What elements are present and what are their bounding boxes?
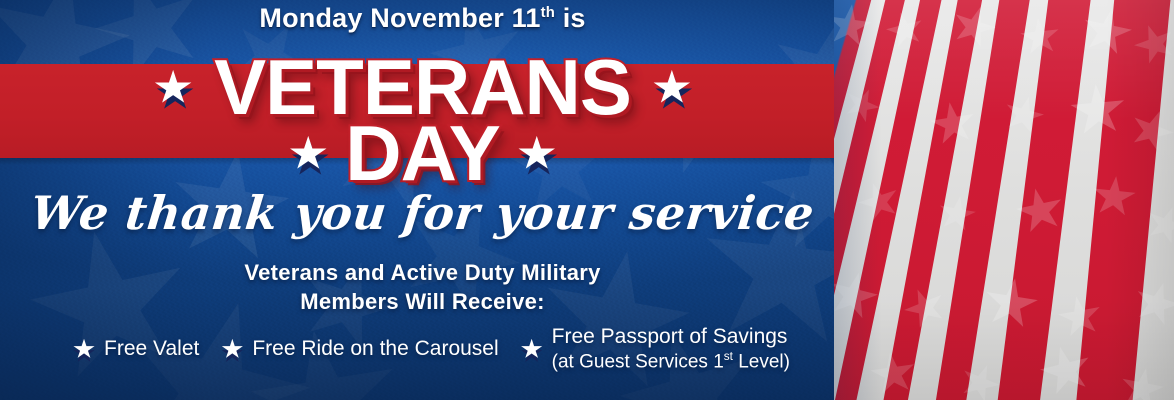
thank-you-script-line: We thank you for your service [0, 186, 848, 240]
date-line-prefix: Monday November 11 [259, 3, 540, 33]
star-icon [518, 136, 556, 172]
perk-label-text: Free Passport of Savings [552, 325, 788, 348]
perks-list: Free Valet Free Ride on the Carousel Fre… [0, 325, 845, 374]
date-line-suffix: is [555, 3, 586, 33]
veterans-day-banner: Monday November 11th is VETERANS DAY We … [0, 0, 1174, 400]
date-line: Monday November 11th is [0, 3, 845, 34]
subheading: Veterans and Active Duty Military Member… [0, 258, 845, 316]
perk-label-text: Free Ride on the Carousel [252, 337, 498, 360]
star-icon [289, 136, 327, 172]
us-flag-graphic [834, 0, 1174, 400]
perk-label: Free Ride on the Carousel [252, 337, 498, 362]
date-line-ordinal: th [541, 5, 555, 21]
subheading-line-1: Veterans and Active Duty Military [0, 258, 845, 287]
perk-label: Free Valet [104, 337, 199, 362]
star-icon [154, 70, 192, 106]
flag-shading [834, 0, 1174, 400]
perk-sublabel-ordinal: st [724, 350, 733, 363]
perk-sublabel-suffix: Level) [733, 351, 790, 372]
perk-sublabel: (at Guest Services 1st Level) [552, 350, 790, 374]
title-word-day: DAY [345, 118, 500, 190]
perk-label: Free Passport of Savings (at Guest Servi… [552, 325, 790, 374]
perk-label-text: Free Valet [104, 337, 199, 360]
perk-item: Free Valet [73, 337, 199, 362]
banner-content: Monday November 11th is VETERANS DAY We … [0, 0, 845, 400]
star-icon [221, 339, 243, 360]
title-line-day: DAY [0, 118, 845, 190]
perk-sublabel-prefix: (at Guest Services 1 [552, 351, 724, 372]
star-icon [73, 339, 95, 360]
subheading-line-2: Members Will Receive: [0, 287, 845, 316]
star-icon [653, 70, 691, 106]
perk-item: Free Ride on the Carousel [221, 337, 498, 362]
perk-item: Free Passport of Savings (at Guest Servi… [521, 325, 790, 374]
star-icon [521, 339, 543, 360]
